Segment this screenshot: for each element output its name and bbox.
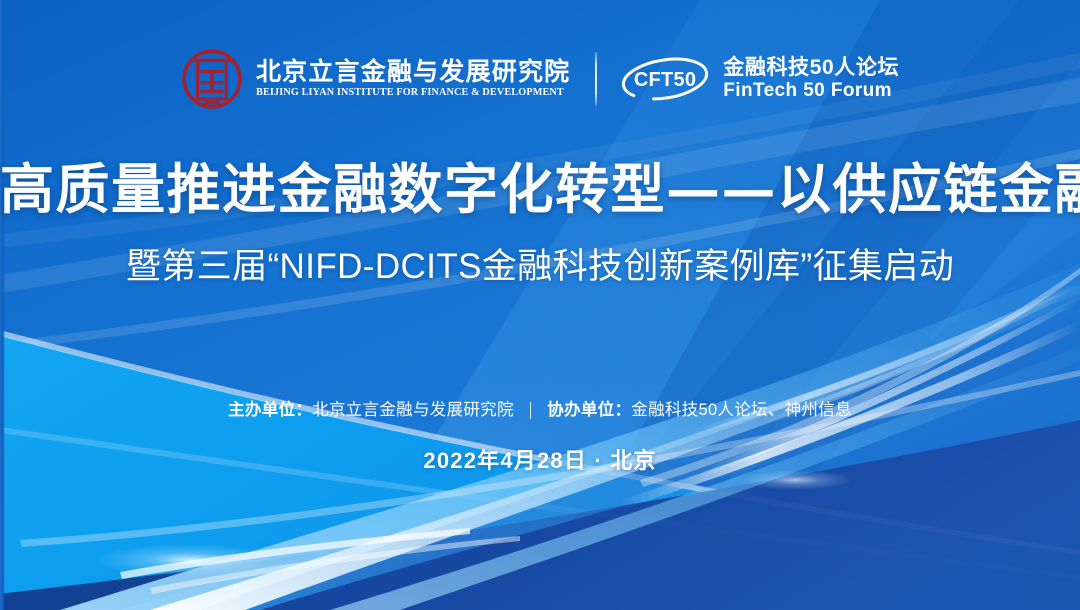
organizer-host-value: 北京立言金融与发展研究院 [312,401,514,419]
organizer-coorganizer: 协办单位：金融科技50人论坛、神州信息 [547,401,852,421]
organizer-coorganizer-label: 协办单位： [547,401,631,419]
forum-logo: CFT50 金融科技50人论坛 FinTech 50 Forum [619,53,899,105]
logo-row: 北京立言金融与发展研究院 BEIJING LIYAN INSTITUTE FOR… [0,48,1080,110]
seal-stamp-icon [181,48,243,110]
cft50-ring-icon: CFT50 [619,53,711,105]
logo-divider [595,52,597,106]
event-date-location: 2022年4月28日 · 北京 [0,443,1080,475]
organizer-separator [530,402,532,419]
institute-name-en: BEIJING LIYAN INSTITUTE FOR FINANCE & DE… [256,88,564,99]
main-title: 高质量推进金融数字化转型——以供应链金融为例 [0,160,1080,219]
institute-name-cn: 北京立言金融与发展研究院 [256,59,573,86]
organizer-row: 主办单位：北京立言金融与发展研究院 协办单位：金融科技50人论坛、神州信息 [0,401,1080,421]
institute-logo: 北京立言金融与发展研究院 BEIJING LIYAN INSTITUTE FOR… [181,48,573,110]
sub-title: 暨第三届“NIFD-DCITS金融科技创新案例库”征集启动 [0,247,1080,287]
organizer-host-label: 主办单位： [228,401,312,419]
svg-text:CFT50: CFT50 [634,69,696,91]
forum-name-block: 金融科技50人论坛 FinTech 50 Forum [723,56,899,102]
conference-banner: 北京立言金融与发展研究院 BEIJING LIYAN INSTITUTE FOR… [0,0,1080,610]
organizer-host: 主办单位：北京立言金融与发展研究院 [228,401,514,421]
institute-name-block: 北京立言金融与发展研究院 BEIJING LIYAN INSTITUTE FOR… [256,59,573,99]
organizer-coorganizer-value: 金融科技50人论坛、神州信息 [631,401,852,419]
forum-name-en: FinTech 50 Forum [723,81,899,102]
forum-name-cn: 金融科技50人论坛 [723,56,899,79]
